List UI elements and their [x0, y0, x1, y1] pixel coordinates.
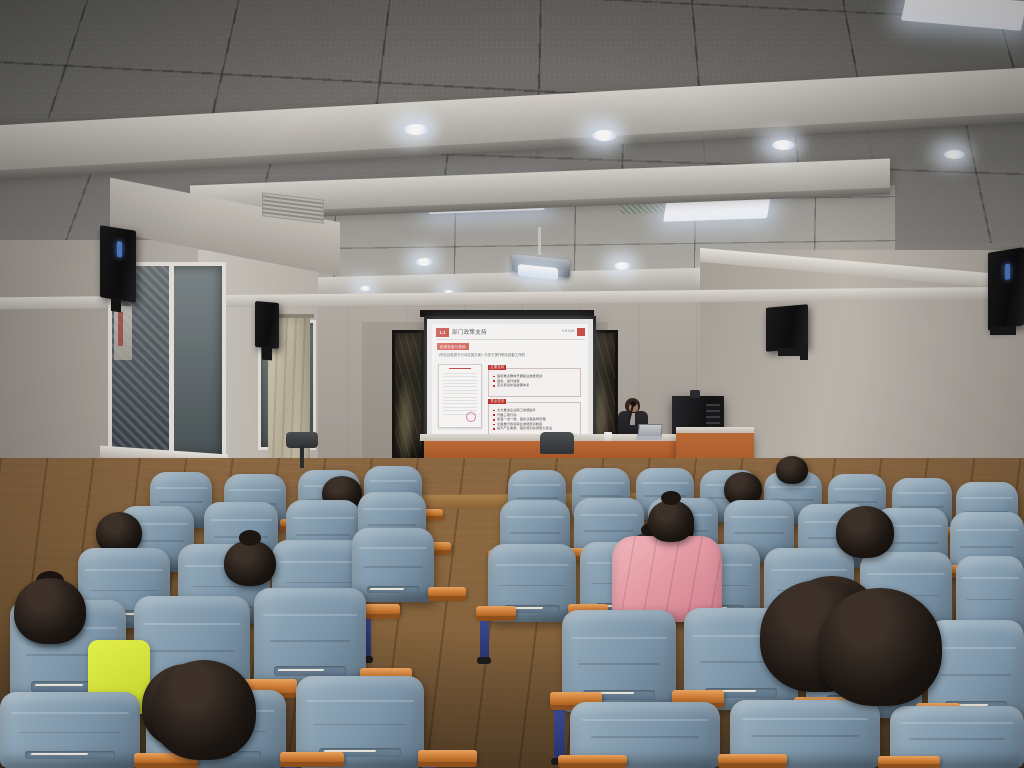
- paper-cup: [604, 432, 612, 441]
- wall-art-panel-left: [392, 330, 424, 462]
- slide-corner-label: CHINA: [562, 329, 575, 333]
- slide-box-objectives: 主要目标 围绕重点群体开展职业技能培训 强化、提升技能 完善培训补贴政策体系: [488, 368, 581, 397]
- slide-corner-mark: [577, 328, 585, 336]
- auditorium-seat[interactable]: [0, 692, 140, 768]
- slide-section-badge: 1.1: [436, 328, 449, 337]
- slide-box1-list: 围绕重点群体开展职业技能培训 强化、提升技能 完善培训补贴政策体系: [489, 369, 580, 390]
- projection-screen: 1.1 部门政策支持 CHINA 政策制度与基础 《职业技能提升行动实施方案》中…: [424, 316, 596, 446]
- slide-box2-header: 重点任务: [488, 399, 506, 404]
- attendee-yellow-jacket-head: [14, 578, 86, 644]
- attendee-foreground-2: [818, 588, 942, 706]
- downlight-2-icon: [592, 130, 617, 141]
- fold-out-writing-desk[interactable]: [878, 756, 940, 765]
- downlight-5-icon: [416, 258, 433, 266]
- wall-speaker-left-front: [255, 301, 279, 349]
- downlight-1-icon: [404, 124, 429, 135]
- downlight-3-icon: [772, 140, 795, 150]
- slide-lead-text: 《职业技能提升行动实施方案》中关于提升职业技能工作的: [437, 352, 582, 357]
- speaker-bracket-post: [800, 344, 808, 360]
- attendee-pink-coat-head: [648, 500, 694, 542]
- fold-out-writing-desk[interactable]: [280, 752, 344, 763]
- projector-mount-pole: [538, 227, 541, 255]
- speaker-bracket-right-rear: [990, 326, 1016, 335]
- downlight-6-icon: [614, 262, 631, 270]
- wall-speaker-right-rear: [988, 247, 1024, 331]
- slide-header-rule: [436, 339, 585, 340]
- fold-out-writing-desk[interactable]: [418, 750, 477, 763]
- window-far-object: [114, 306, 132, 360]
- fold-out-writing-desk[interactable]: [718, 754, 787, 764]
- fold-out-writing-desk[interactable]: [428, 587, 466, 597]
- wall-speaker-left-rear: [100, 225, 136, 303]
- attendee-left-2: [224, 540, 276, 586]
- presenter-laptop: [636, 424, 662, 440]
- window-mullion: [169, 266, 174, 456]
- auditorium-seat[interactable]: [254, 588, 366, 688]
- lecture-hall-photo: 1.1 部门政策支持 CHINA 政策制度与基础 《职业技能提升行动实施方案》中…: [0, 0, 1024, 768]
- list-item: 完善培训补贴政策体系: [497, 383, 578, 388]
- seat-frame-leg: [554, 704, 565, 760]
- attendee-right-4: [836, 506, 894, 558]
- list-item: 提升产业素质、强化培训资源能力建设: [497, 426, 578, 431]
- slide-box2-list: 大力推进企业职工技能提升 开展三项行动 加强一书一档、强化过程监督管理 全面推行…: [489, 403, 580, 433]
- attendee-foreground-3: [152, 660, 256, 760]
- rolling-stool: [286, 432, 328, 472]
- slide-box1-header: 主要目标: [488, 365, 506, 370]
- slide-tag: 政策制度与基础: [437, 343, 469, 350]
- policy-document-thumbnail: [438, 364, 482, 428]
- seat-frame-leg: [480, 616, 489, 659]
- stage-chair: [540, 432, 574, 454]
- attendee-right-3: [776, 456, 808, 484]
- slide-title: 部门政策支持: [452, 328, 487, 336]
- presentation-slide: 1.1 部门政策支持 CHINA 政策制度与基础 《职业技能提升行动实施方案》中…: [432, 324, 588, 438]
- fold-out-writing-desk[interactable]: [476, 606, 516, 617]
- fold-out-writing-desk[interactable]: [558, 755, 627, 764]
